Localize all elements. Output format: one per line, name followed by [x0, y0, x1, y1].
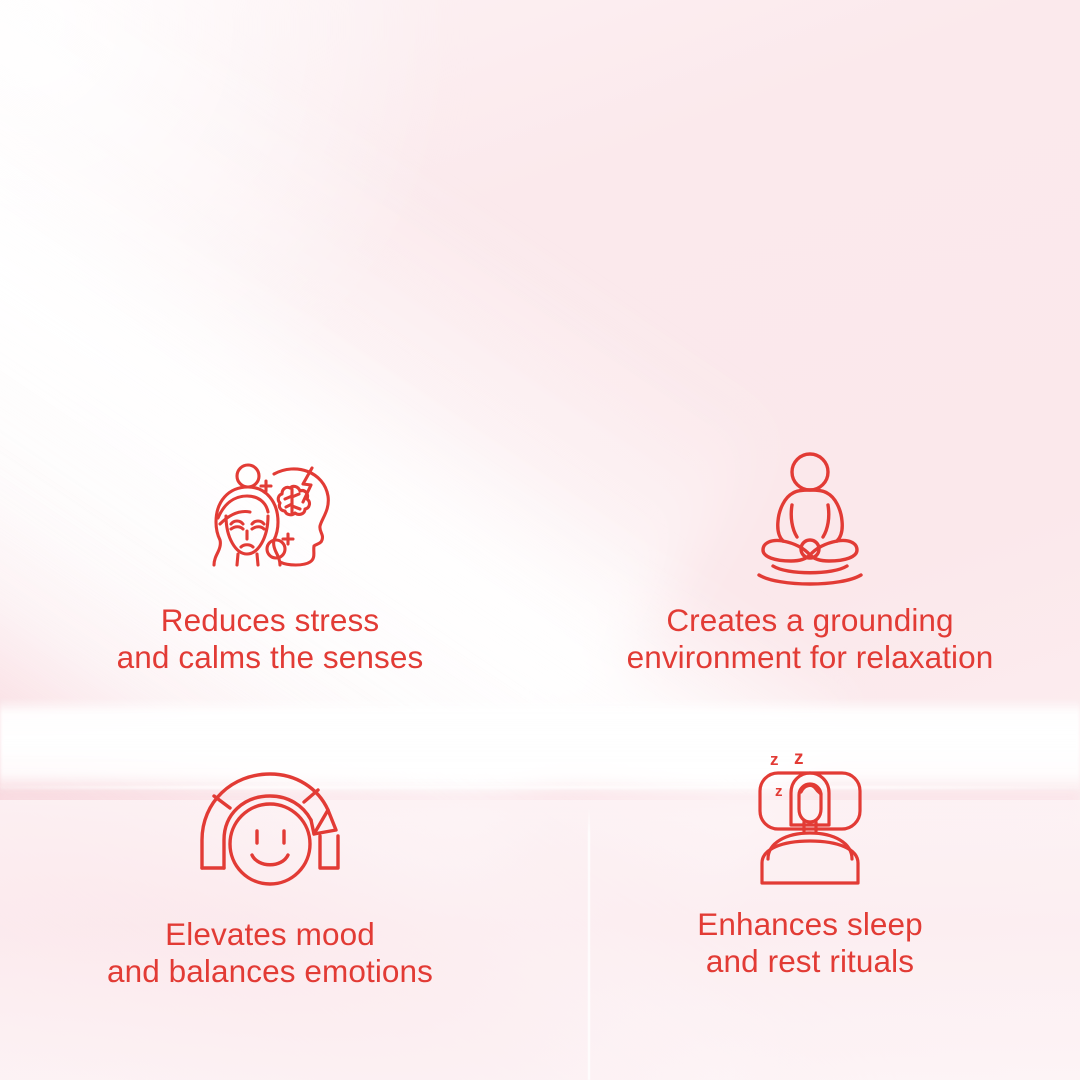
stressed-woman-brain-lightning-icon	[195, 444, 345, 584]
benefit-cell-elevates-mood: Elevates mood and balances emotions	[0, 676, 540, 1080]
benefit-cell-reduces-stress: Reduces stress and calms the senses	[0, 0, 540, 676]
sleeping-person-bed-zzz-icon: z z z	[735, 748, 885, 888]
benefit-caption: Enhances sleep and rest rituals	[697, 906, 923, 980]
benefit-cell-enhances-sleep: z z z	[540, 676, 1080, 1080]
benefits-poster: Reduces stress and calms the senses	[0, 0, 1080, 1080]
benefit-caption: Elevates mood and balances emotions	[107, 916, 433, 990]
svg-text:z: z	[794, 748, 804, 769]
mood-gauge-smiley-icon	[195, 758, 345, 898]
benefit-caption: Creates a grounding environment for rela…	[627, 602, 994, 676]
svg-text:z: z	[775, 783, 783, 800]
benefit-cell-grounding-environment: Creates a grounding environment for rela…	[540, 0, 1080, 676]
lotus-meditation-icon	[735, 444, 885, 584]
svg-text:z: z	[770, 750, 779, 769]
benefits-grid: Reduces stress and calms the senses	[0, 0, 1080, 1080]
benefit-caption: Reduces stress and calms the senses	[117, 602, 424, 676]
